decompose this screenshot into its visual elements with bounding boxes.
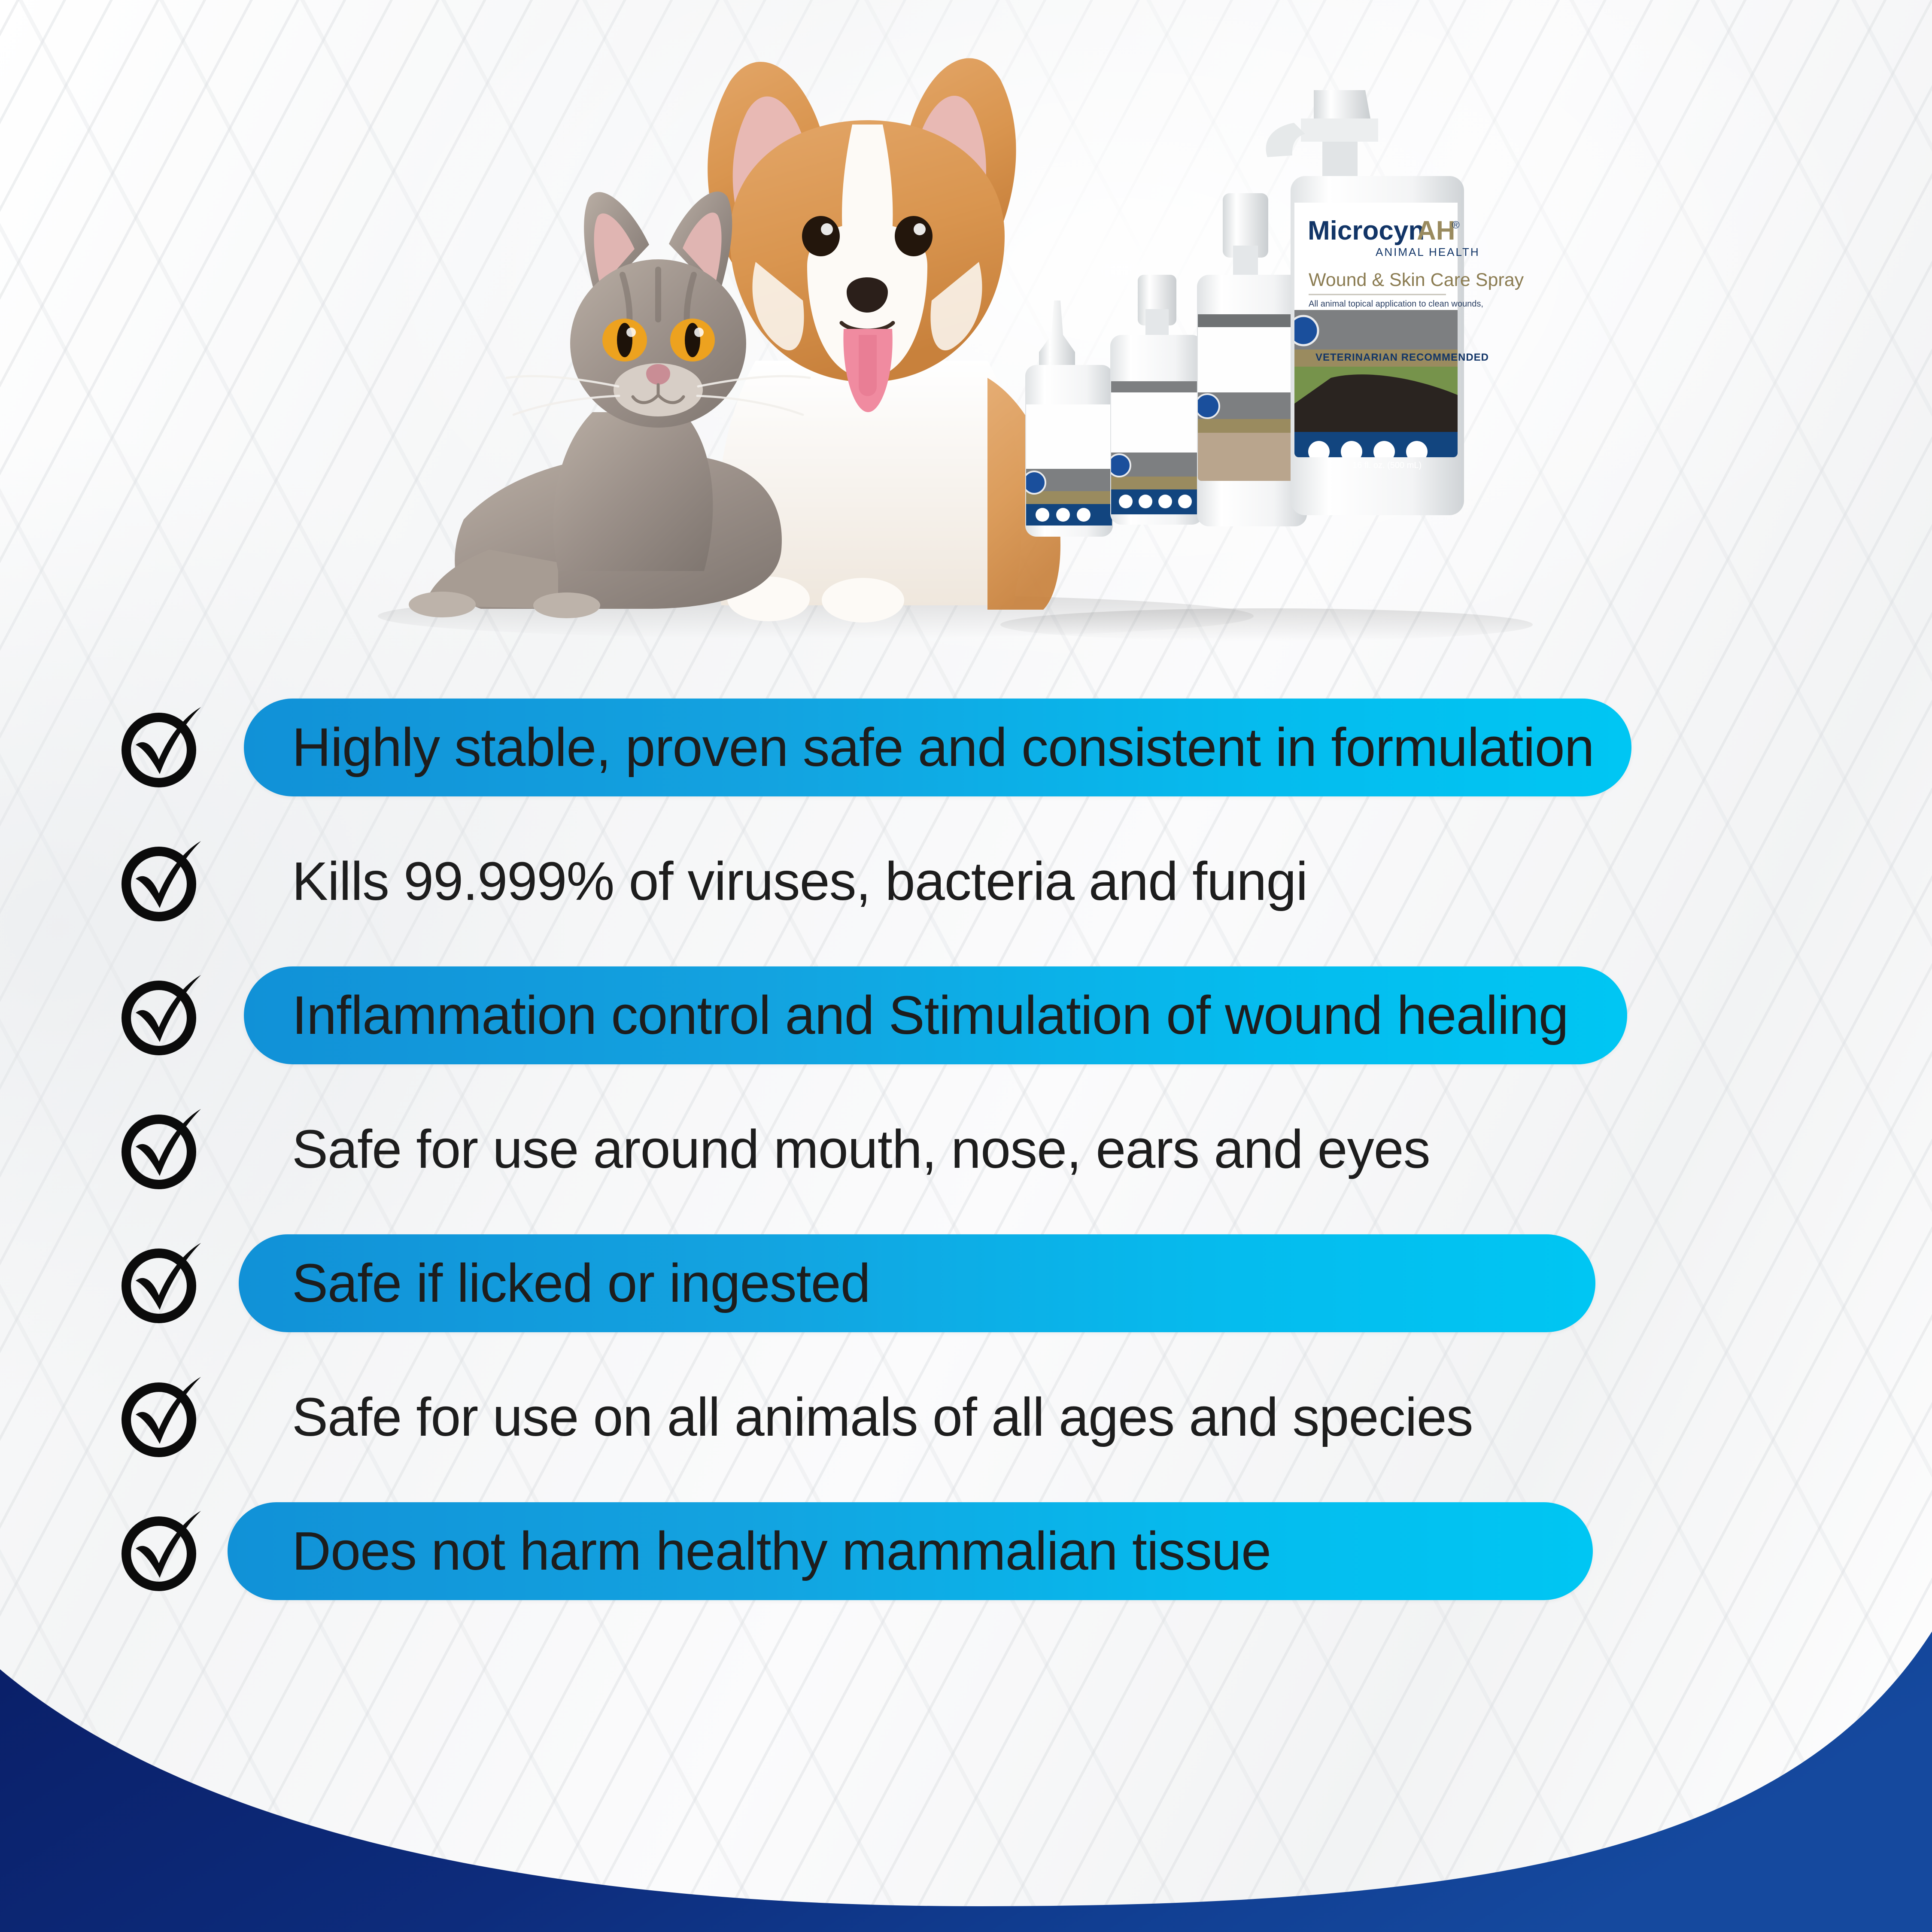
benefit-label: Does not harm healthy mammalian tissue — [292, 1484, 1271, 1618]
product-bottle-wound-skin-hydrogel — [1108, 275, 1203, 525]
benefit-row: Does not harm healthy mammalian tissue — [0, 1484, 1932, 1618]
svg-text:VETERINARIAN RECOMMENDED: VETERINARIAN RECOMMENDED — [1315, 352, 1489, 363]
check-circle-icon — [118, 1375, 204, 1461]
svg-text:Wound & Skin Care Spray: Wound & Skin Care Spray — [1309, 270, 1524, 290]
check-circle-icon — [118, 839, 204, 925]
check-circle-icon — [118, 1241, 204, 1327]
benefit-label: Safe if licked or ingested — [292, 1216, 870, 1350]
svg-text:16 fl. oz. (500 mL): 16 fl. oz. (500 mL) — [1352, 461, 1422, 470]
benefit-row: Safe for use on all animals of all ages … — [0, 1350, 1932, 1484]
benefit-label: Highly stable, proven safe and consisten… — [292, 680, 1594, 814]
check-circle-icon — [118, 705, 204, 791]
product-bottle-wound-skin-care-hydrogel — [1195, 193, 1307, 526]
benefit-label: Kills 99.999% of viruses, bacteria and f… — [292, 814, 1307, 948]
benefit-row: Highly stable, proven safe and consisten… — [0, 680, 1932, 814]
svg-text:All animal topical application: All animal topical application to clean … — [1309, 299, 1483, 309]
benefit-label: Inflammation control and Stimulation of … — [292, 948, 1568, 1082]
check-circle-icon — [118, 1509, 204, 1595]
svg-text:AH: AH — [1417, 216, 1455, 246]
footer-wave — [0, 1606, 1932, 1932]
benefit-label: Safe for use around mouth, nose, ears an… — [292, 1082, 1430, 1216]
svg-text:Microcyn: Microcyn — [1308, 216, 1425, 246]
hero-image: Microcyn AH ® ANIMAL HEALTH Wound & Skin… — [0, 34, 1932, 653]
benefit-label: Safe for use on all animals of all ages … — [292, 1350, 1473, 1484]
benefit-row: Safe if licked or ingested — [0, 1216, 1932, 1350]
product-bottle-ear-wash — [1023, 301, 1113, 537]
svg-text:ANIMAL HEALTH: ANIMAL HEALTH — [1376, 246, 1480, 258]
check-circle-icon — [118, 1107, 204, 1193]
benefit-row: Kills 99.999% of viruses, bacteria and f… — [0, 814, 1932, 948]
svg-text:®: ® — [1452, 219, 1460, 231]
benefits-list: Highly stable, proven safe and consisten… — [0, 680, 1932, 1618]
benefit-row: Safe for use around mouth, nose, ears an… — [0, 1082, 1932, 1216]
check-circle-icon — [118, 973, 204, 1059]
infographic-canvas: Microcyn AH ® ANIMAL HEALTH Wound & Skin… — [0, 0, 1932, 1932]
benefit-row: Inflammation control and Stimulation of … — [0, 948, 1932, 1082]
product-bottle-wound-skin-care-spray: Microcyn AH ® ANIMAL HEALTH Wound & Skin… — [1266, 90, 1524, 515]
